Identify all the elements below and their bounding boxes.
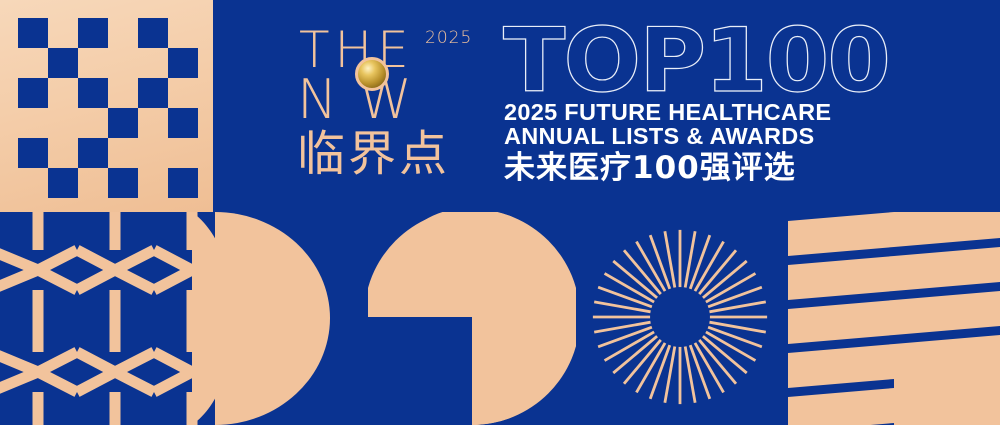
gold-orb-icon [355,57,389,91]
checker-cell [108,108,138,138]
notched-circle-shape [368,212,576,425]
headline-top100-wrap: TOP100 [503,18,843,100]
subtitle-line-chinese: 未来医疗100强评选 [504,148,864,188]
checker-cell [138,108,168,138]
checker-cell [108,48,138,78]
logo-year: 2025 [425,28,472,48]
checker-cell [18,48,48,78]
checker-cell [108,138,138,168]
checker-cell [78,138,108,168]
checker-cell [138,18,168,48]
checker-cell [48,138,78,168]
checker-cell [48,108,78,138]
checker-cell [18,168,48,198]
checker-cell [78,78,108,108]
hexagon-lattice-icon [0,212,200,425]
headline-top100: TOP100 [503,18,857,104]
checker-cell [18,138,48,168]
checker-cell [48,18,78,48]
checker-cell [108,18,138,48]
checker-cell [138,78,168,108]
checker-cell [108,78,138,108]
checker-cell [138,138,168,168]
checker-cell [18,108,48,138]
decor-band [0,212,1000,425]
subtitle-line-1: 2025 FUTURE HEALTHCARE [504,100,864,124]
checker-cell [78,48,108,78]
checker-cell [48,168,78,198]
checker-cell [18,18,48,48]
checker-cell [168,108,198,138]
checkerboard-grid [18,18,198,198]
diagonal-stripes-icon [788,212,1000,425]
checker-cell [48,78,78,108]
checker-cell [138,48,168,78]
logo-word-chinese: 临界点 [297,128,450,180]
checker-cell [168,138,198,168]
checker-cell [108,168,138,198]
checker-cell [138,168,168,198]
checker-cell [48,48,78,78]
subtitle-block: 2025 FUTURE HEALTHCARE ANNUAL LISTS & AW… [504,100,864,188]
checker-cell [78,108,108,138]
sunburst-icon [592,217,768,417]
checker-cell [168,18,198,48]
half-disc-shape [215,212,330,425]
checkerboard-block [0,0,213,212]
checker-cell [168,48,198,78]
checker-cell [78,168,108,198]
checker-cell [168,78,198,108]
promo-banner: THE 2025 N W 临界点 TOP100 2025 FUTURE HEAL… [0,0,1000,425]
subtitle-line-2: ANNUAL LISTS & AWARDS [504,124,864,148]
logo-lockup: THE 2025 N W 临界点 [297,24,487,189]
checker-cell [78,18,108,48]
checker-cell [168,168,198,198]
checker-cell [18,78,48,108]
